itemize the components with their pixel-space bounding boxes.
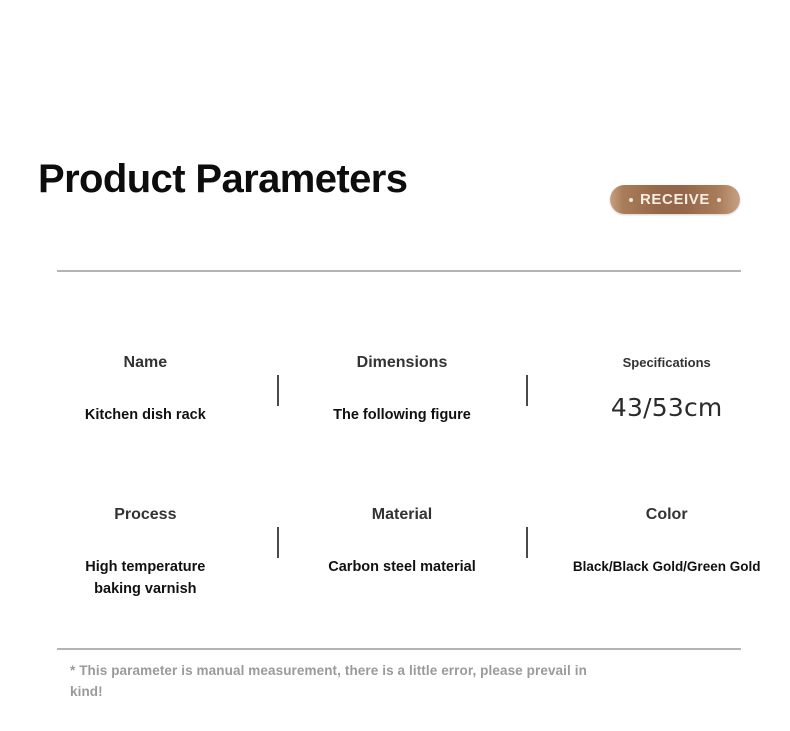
spec-table: Name Kitchen dish rack Dimensions The fo… — [0, 340, 790, 644]
spec-header-label: Process — [114, 504, 176, 526]
footer-divider — [57, 648, 741, 650]
spec-cell-dimensions: Dimensions The following figure — [269, 340, 526, 492]
spec-header-label: Material — [372, 504, 432, 526]
spec-value-text: High temperature baking varnish — [85, 556, 205, 600]
spec-header-label: Dimensions — [357, 352, 448, 374]
spec-value-text: Kitchen dish rack — [85, 404, 206, 426]
spec-value-text: The following figure — [333, 404, 471, 426]
spec-cell-material: Material Carbon steel material — [269, 492, 526, 644]
page-title: Product Parameters — [38, 150, 407, 208]
spec-value-text: 43/53cm — [611, 397, 723, 419]
table-row: Name Kitchen dish rack Dimensions The fo… — [0, 340, 790, 492]
receive-button-label: RECEIVE — [640, 192, 710, 207]
spec-value-text: Black/Black Gold/Green Gold — [573, 556, 761, 578]
spec-cell-name: Name Kitchen dish rack — [0, 340, 269, 492]
receive-button[interactable]: RECEIVE — [610, 185, 740, 214]
header-divider — [57, 270, 741, 272]
spec-value-text: Carbon steel material — [328, 556, 475, 578]
spec-header-label: Color — [646, 504, 688, 526]
spec-header-label: Specifications — [623, 352, 711, 374]
spec-cell-specifications: Specifications 43/53cm — [525, 340, 790, 492]
bullet-dot-left-icon — [629, 198, 633, 202]
product-parameters-page: Product Parameters RECEIVE Name Kitchen … — [0, 0, 790, 731]
bullet-dot-right-icon — [717, 198, 721, 202]
table-row: Process High temperature baking varnish … — [0, 492, 790, 644]
spec-cell-color: Color Black/Black Gold/Green Gold — [525, 492, 790, 644]
footer-disclaimer-note: * This parameter is manual measurement, … — [70, 660, 610, 702]
page-header: Product Parameters RECEIVE — [0, 150, 790, 230]
spec-cell-process: Process High temperature baking varnish — [0, 492, 269, 644]
spec-header-label: Name — [124, 352, 168, 374]
